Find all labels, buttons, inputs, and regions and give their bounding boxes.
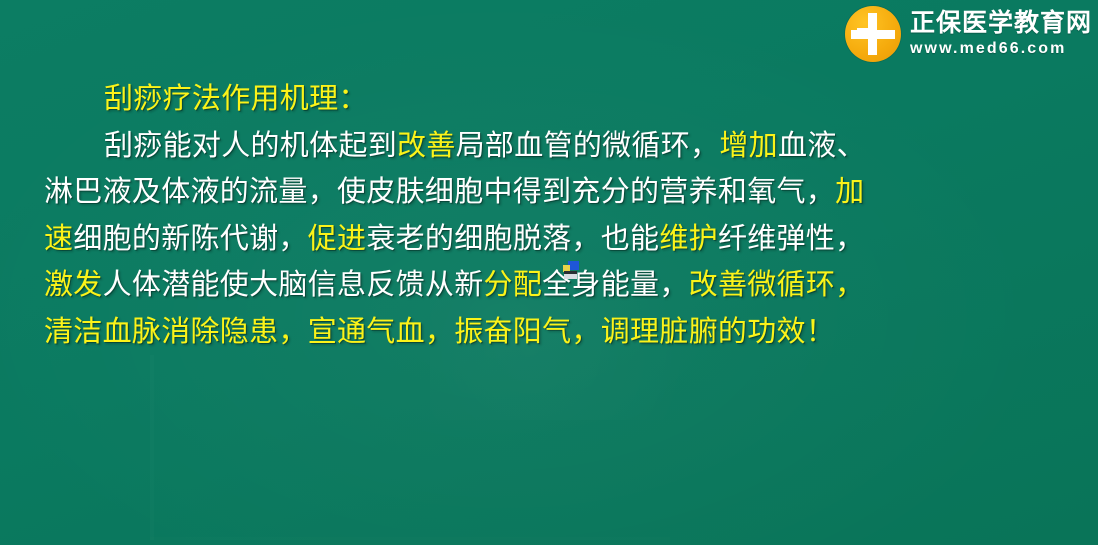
highlighted-text-run: 改善 <box>397 130 456 162</box>
body-line: 淋巴液及体液的流量，使皮肤细胞中得到充分的营养和氧气，加 <box>44 169 1058 216</box>
highlighted-text-run: 改善微循环， <box>689 269 865 301</box>
background-watermark <box>150 355 670 540</box>
logo-text-block: 正保医学教育网 www.med66.com <box>910 11 1092 57</box>
text-run: 细胞的新陈代谢， <box>73 223 307 255</box>
body-line: 速细胞的新陈代谢，促进衰老的细胞脱落，也能维护纤维弹性， <box>44 216 1058 263</box>
highlighted-text-run: 促进 <box>308 223 367 255</box>
text-run: 局部血管的微循环， <box>456 130 720 162</box>
text-run: 全身能量， <box>542 269 689 301</box>
slide-title: 刮痧疗法作用机理： <box>104 83 368 115</box>
body-line: 刮痧能对人的机体起到改善局部血管的微循环，增加血液、 <box>44 123 1058 170</box>
text-run: 纤维弹性， <box>718 223 865 255</box>
presentation-slide: 正保医学教育网 www.med66.com 刮痧疗法作用机理： 刮痧能对人的机体… <box>0 0 1098 545</box>
text-run: 人体潜能使大脑信息反馈从新 <box>103 269 484 301</box>
cross-in-circle-icon <box>845 6 901 62</box>
text-run: 衰老的细胞脱落，也能 <box>366 223 659 255</box>
body-line: 激发人体潜能使大脑信息反馈从新分配全身能量，改善微循环， <box>44 262 1058 309</box>
slide-body: 刮痧能对人的机体起到改善局部血管的微循环，增加血液、淋巴液及体液的流量，使皮肤细… <box>44 123 1058 356</box>
text-run: 刮痧能对人的机体起到 <box>104 130 397 162</box>
body-line: 清洁血脉消除隐患，宣通气血，振奋阳气，调理脏腑的功效！ <box>44 309 1058 356</box>
highlighted-text-run: 速 <box>44 223 73 255</box>
highlighted-text-run: 加 <box>835 176 864 208</box>
highlighted-text-run: 清洁血脉消除隐患，宣通气血，振奋阳气，调理脏腑的功效！ <box>44 316 835 348</box>
text-run: 淋巴液及体液的流量，使皮肤细胞中得到充分的营养和氧气， <box>44 176 835 208</box>
site-logo: 正保医学教育网 www.med66.com <box>845 6 1092 62</box>
highlighted-text-run: 分配 <box>484 269 543 301</box>
highlighted-text-run: 激发 <box>44 269 103 301</box>
logo-site-name: 正保医学教育网 <box>910 11 1092 36</box>
slide-content: 刮痧疗法作用机理： 刮痧能对人的机体起到改善局部血管的微循环，增加血液、淋巴液及… <box>44 76 1058 355</box>
logo-site-url: www.med66.com <box>910 41 1092 57</box>
highlighted-text-run: 维护 <box>659 223 718 255</box>
text-run: 血液、 <box>778 130 866 162</box>
slide-title-line: 刮痧疗法作用机理： <box>44 76 1058 123</box>
highlighted-text-run: 增加 <box>719 130 778 162</box>
